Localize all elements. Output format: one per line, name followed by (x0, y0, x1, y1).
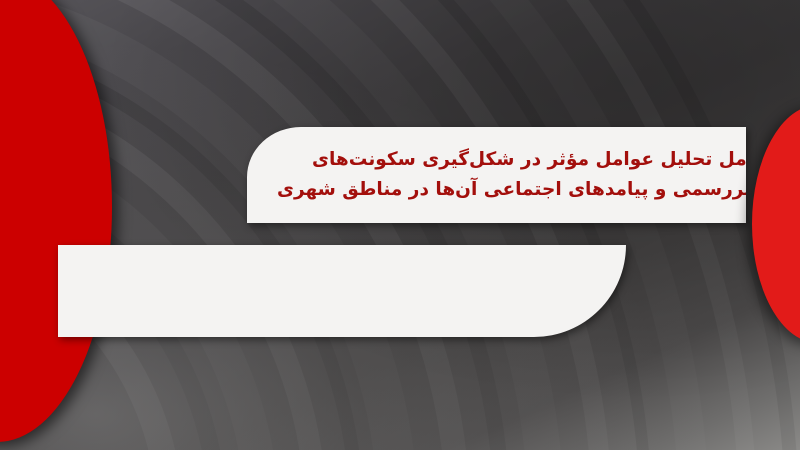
title-line-1: کامل تحلیل عوامل مؤثر در شکل‌گیری سکونت‌… (312, 149, 746, 170)
title-plate[interactable]: کامل تحلیل عوامل مؤثر در شکل‌گیری سکونت‌… (247, 127, 746, 223)
slide-title: کامل تحلیل عوامل مؤثر در شکل‌گیری سکونت‌… (247, 145, 746, 205)
title-line-2: غیررسمی و پیامدهای اجتماعی آن‌ها در مناط… (277, 175, 746, 205)
arc-band-svg (0, 0, 800, 450)
slide-canvas: کامل تحلیل عوامل مؤثر در شکل‌گیری سکونت‌… (0, 0, 800, 450)
dark-arc-background (0, 0, 800, 450)
content-placeholder-plate[interactable] (58, 245, 626, 337)
